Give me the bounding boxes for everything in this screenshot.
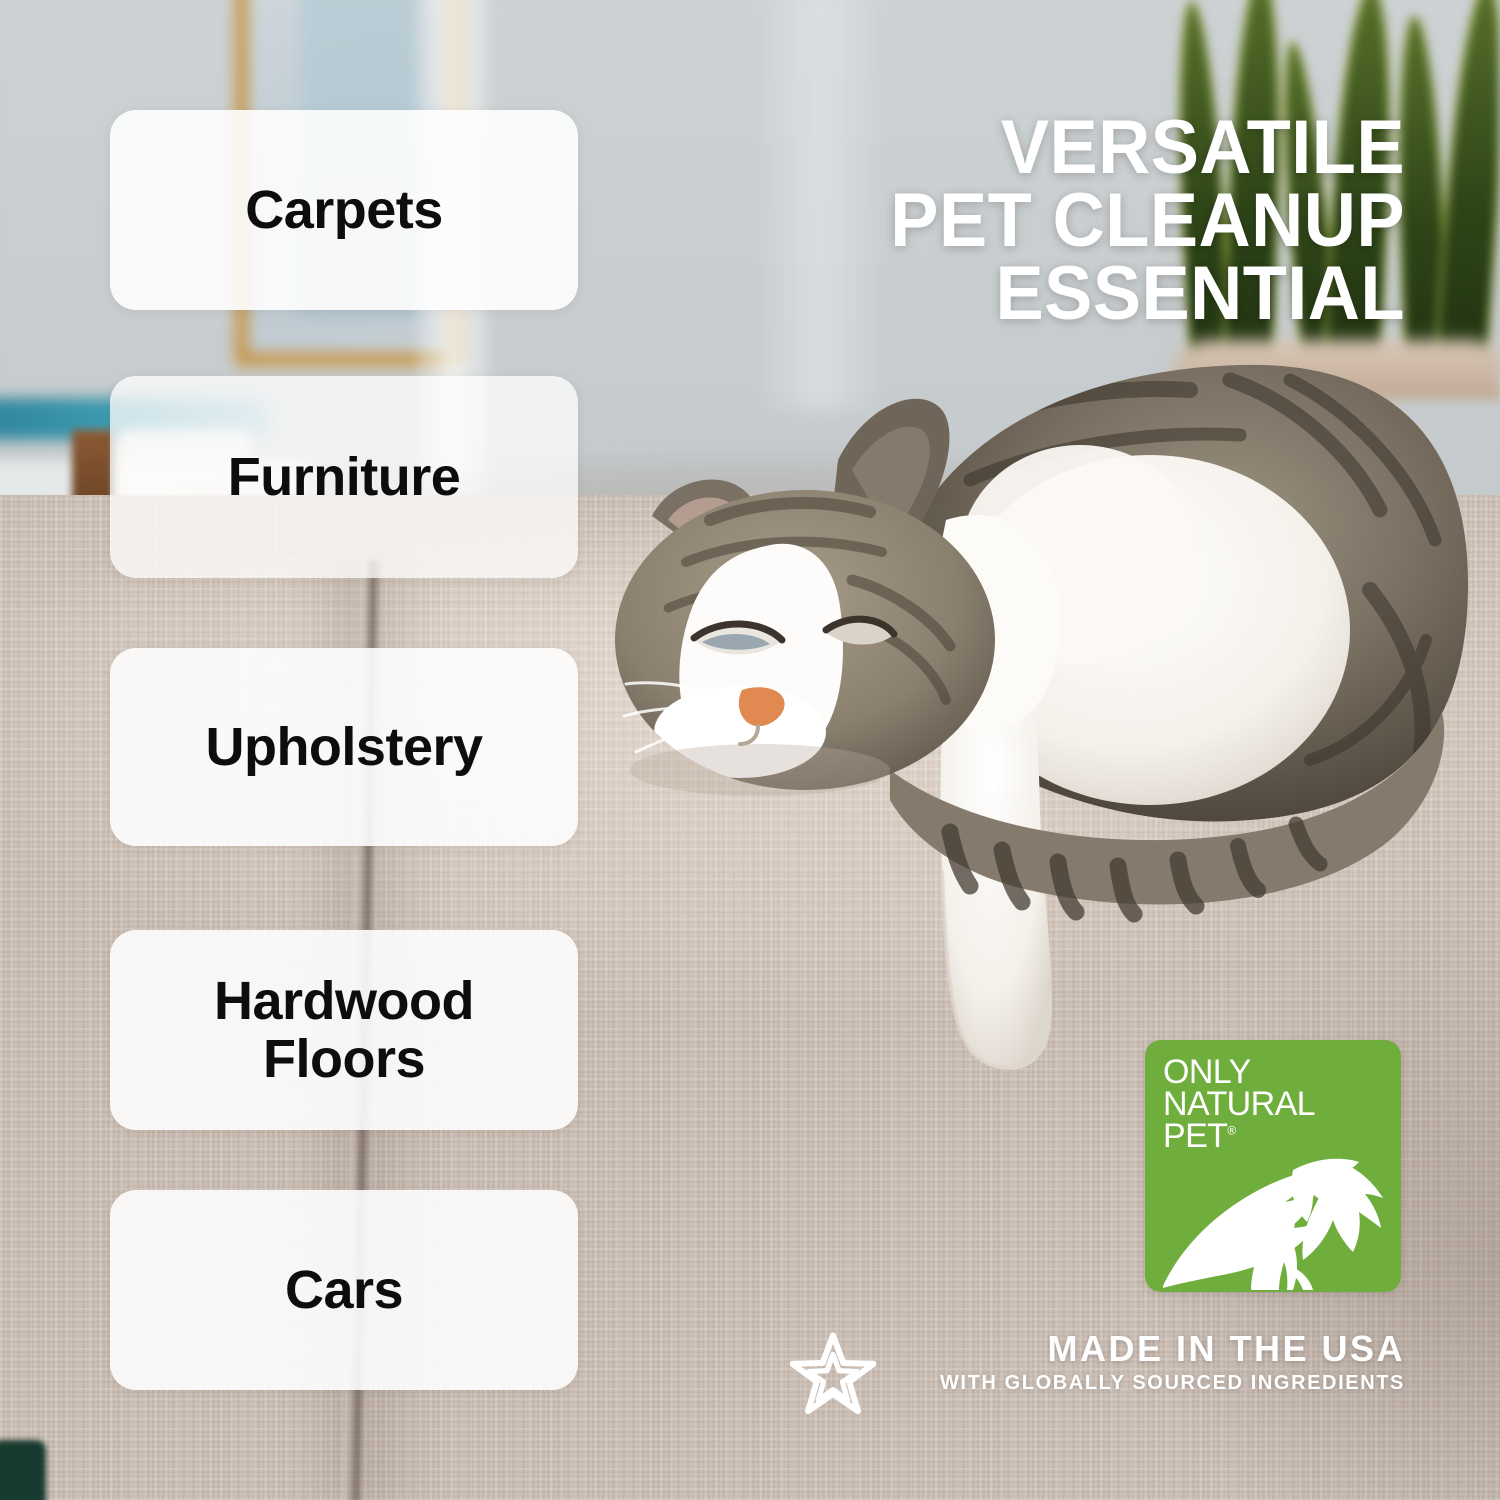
surface-pill-carpets[interactable]: Carpets xyxy=(110,110,578,310)
headline-line-3: ESSENTIAL xyxy=(797,258,1405,331)
made-in-usa-text: MADE IN THE USA WITH GLOBALLY SOURCED IN… xyxy=(892,1330,1405,1395)
headline-line-1: VERSATILE xyxy=(797,112,1405,185)
surface-pill-label: Upholstery xyxy=(205,718,482,776)
surface-pill-label: Carpets xyxy=(245,181,443,239)
surface-pill-label: Hardwood Floors xyxy=(214,972,474,1089)
leaf-dog-cat-icon xyxy=(1145,1140,1401,1292)
headline: VERSATILE PET CLEANUP ESSENTIAL xyxy=(797,112,1405,331)
surface-pill-label: Cars xyxy=(285,1261,403,1319)
product-lifestyle-image: Carpets Furniture Upholstery Hardwood Fl… xyxy=(0,0,1500,1500)
surface-pill-label: Furniture xyxy=(228,448,461,506)
surface-list: Carpets Furniture Upholstery Hardwood Fl… xyxy=(110,0,580,1500)
made-in-usa-headline: MADE IN THE USA xyxy=(892,1330,1405,1368)
only-natural-pet-logo: ONLY NATURAL PET® xyxy=(1145,1040,1401,1292)
green-object-corner xyxy=(0,1440,46,1500)
surface-pill-furniture[interactable]: Furniture xyxy=(110,376,578,578)
cat-photo-subject xyxy=(590,340,1470,1080)
registered-mark: ® xyxy=(1227,1124,1235,1138)
made-in-usa-subtext: WITH GLOBALLY SOURCED INGREDIENTS xyxy=(892,1372,1405,1395)
star-outline-icon xyxy=(790,1332,876,1418)
surface-pill-upholstery[interactable]: Upholstery xyxy=(110,648,578,846)
headline-line-2: PET CLEANUP xyxy=(797,185,1405,258)
surface-pill-hardwood-floors[interactable]: Hardwood Floors xyxy=(110,930,578,1130)
surface-pill-cars[interactable]: Cars xyxy=(110,1190,578,1390)
logo-wordmark: ONLY NATURAL PET® xyxy=(1163,1057,1315,1153)
made-in-usa-badge: MADE IN THE USA WITH GLOBALLY SOURCED IN… xyxy=(790,1330,1405,1435)
